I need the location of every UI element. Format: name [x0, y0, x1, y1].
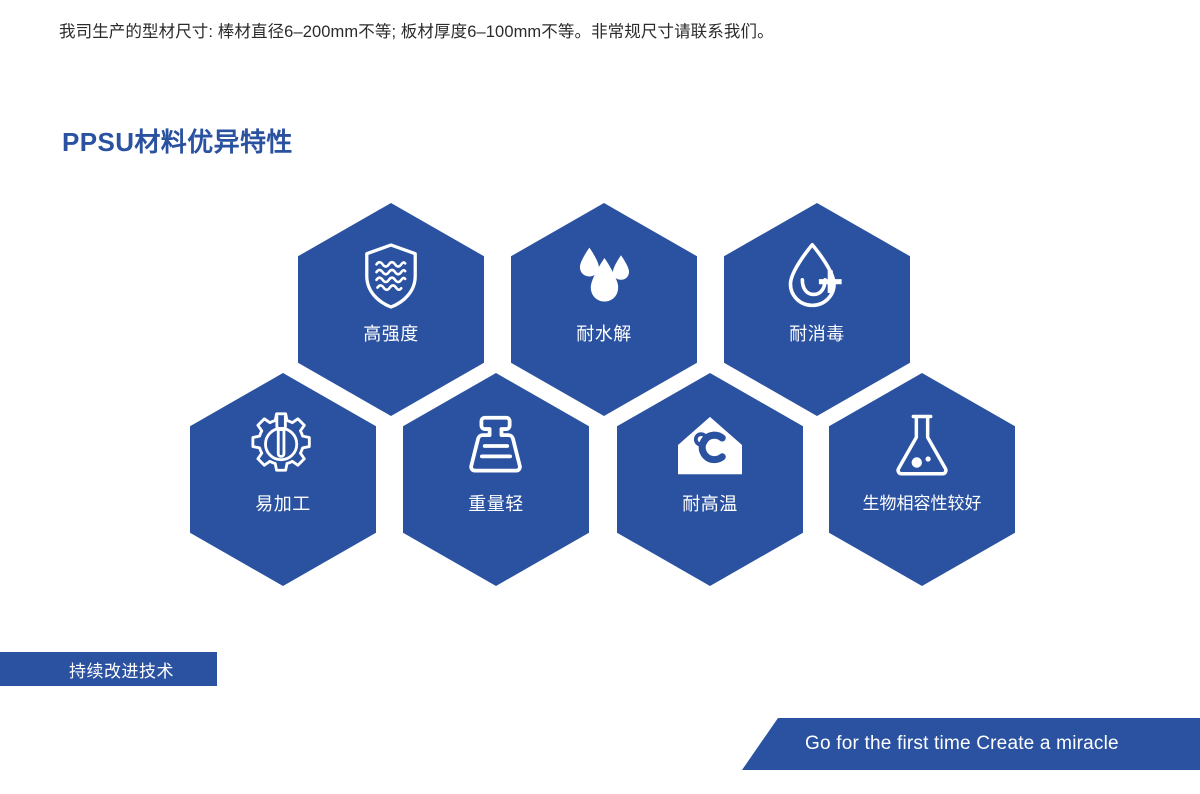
feature-label: 易加工 — [255, 493, 311, 515]
feature-hex-high-strength[interactable]: 高强度 — [298, 203, 484, 416]
water-drops-icon — [568, 239, 640, 313]
feature-hex-hydrolysis-resistant[interactable]: 耐水解 — [511, 203, 697, 416]
feature-label: 耐高温 — [682, 493, 738, 515]
droplet-plus-icon — [781, 239, 853, 313]
feature-label: 耐消毒 — [789, 323, 845, 345]
shield-waves-icon — [355, 239, 427, 313]
feature-label: 生物相容性较好 — [863, 493, 982, 515]
feature-hex-heat-resistant[interactable]: 耐高温 — [617, 373, 803, 586]
feature-hex-sterilization-resistant[interactable]: 耐消毒 — [724, 203, 910, 416]
feature-hex-lightweight[interactable]: 重量轻 — [403, 373, 589, 586]
gear-wrench-icon — [247, 409, 319, 483]
slogan-banner: Go for the first time Create a miracle — [742, 718, 1200, 770]
feature-hex-easy-machining[interactable]: 易加工 — [190, 373, 376, 586]
feature-label: 重量轻 — [468, 493, 524, 515]
feature-hex-biocompatible[interactable]: 生物相容性较好 — [829, 373, 1015, 586]
intro-paragraph: 我司生产的型材尺寸: 棒材直径6–200mm不等; 板材厚度6–100mm不等。… — [59, 20, 774, 44]
weight-icon — [460, 409, 532, 483]
slogan-text: Go for the first time Create a miracle — [805, 733, 1119, 755]
continuous-improvement-tag: 持续改进技术 — [0, 652, 217, 686]
feature-label: 耐水解 — [576, 323, 632, 345]
page-title: PPSU材料优异特性 — [62, 122, 293, 159]
house-celsius-icon — [674, 409, 746, 483]
feature-hex-grid: 高强度 耐水解 耐消毒 — [0, 0, 1200, 600]
flask-icon — [886, 409, 958, 483]
feature-label: 高强度 — [363, 323, 419, 345]
